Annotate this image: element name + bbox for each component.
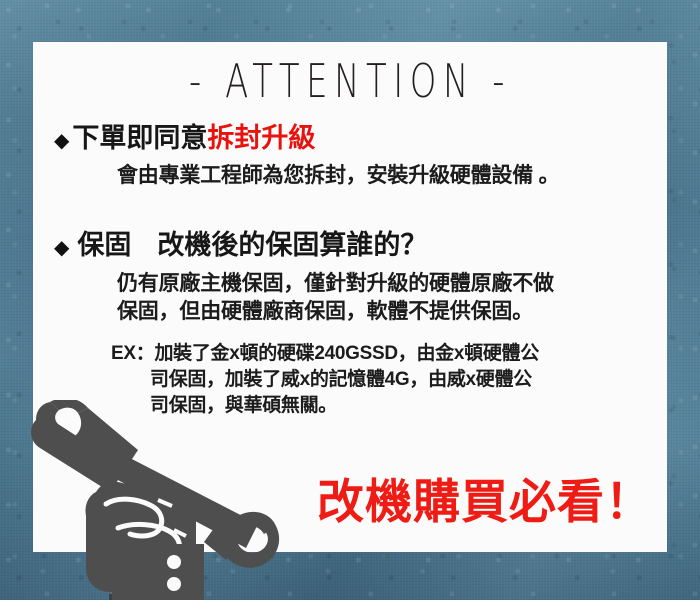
example-line-1: EX：加裝了金x頓的硬碟240GSSD，由金x頓硬體公	[33, 338, 667, 365]
section-2-body-text-2: 保固，但由硬體廠商保固，軟體不提供保固。	[33, 295, 667, 325]
callout-red-text: 改機購買必看！	[317, 463, 653, 532]
section-1-heading: ◆ 下單即同意 拆封升級	[33, 116, 667, 155]
example-line-2: 司保固，加裝了威x的記憶體4G，由威x硬體公	[33, 364, 667, 391]
example-text-1: EX：加裝了金x頓的硬碟240GSSD，由金x頓硬體公	[33, 338, 667, 365]
poster-background: - ATTENTION - ◆ 下單即同意 拆封升級 會由專業工程師為您拆封，安…	[0, 0, 700, 600]
diamond-bullet-icon: ◆	[54, 238, 69, 258]
sleeve-button-2	[167, 577, 181, 591]
section-2-heading-question: 改機後的保固算誰的？	[157, 223, 427, 262]
section-1-heading-row: ◆ 下單即同意 拆封升級	[33, 116, 667, 155]
section-1-heading-highlight: 拆封升級	[207, 116, 315, 155]
section-2-body-line-1: 仍有原廠主機保固，僅針對升級的硬體原廠不做	[33, 267, 667, 297]
sleeve-lower	[112, 544, 208, 600]
diamond-bullet-icon: ◆	[54, 131, 69, 151]
section-1-body: 會由專業工程師為您拆封，安裝升級硬體設備 。	[33, 159, 667, 189]
sleeve-body	[112, 544, 204, 600]
section-2-heading-plain: 保固	[77, 223, 131, 262]
section-2-heading-row: ◆ 保固 改機後的保固算誰的？	[33, 223, 667, 262]
sleeve-button-1	[167, 555, 181, 569]
example-text-2: 司保固，加裝了威x的記憶體4G，由威x硬體公	[33, 364, 667, 391]
section-2-body-text-1: 仍有原廠主機保固，僅針對升級的硬體原廠不做	[33, 267, 667, 297]
section-1-heading-plain: 下單即同意	[72, 116, 207, 155]
section-2-body-line-2: 保固，但由硬體廠商保固，軟體不提供保固。	[33, 295, 667, 325]
section-1-body-line: 會由專業工程師為您拆封，安裝升級硬體設備 。	[33, 159, 667, 189]
section-2-heading: ◆ 保固 改機後的保固算誰的？	[33, 223, 667, 262]
page-title: - ATTENTION -	[52, 56, 648, 108]
